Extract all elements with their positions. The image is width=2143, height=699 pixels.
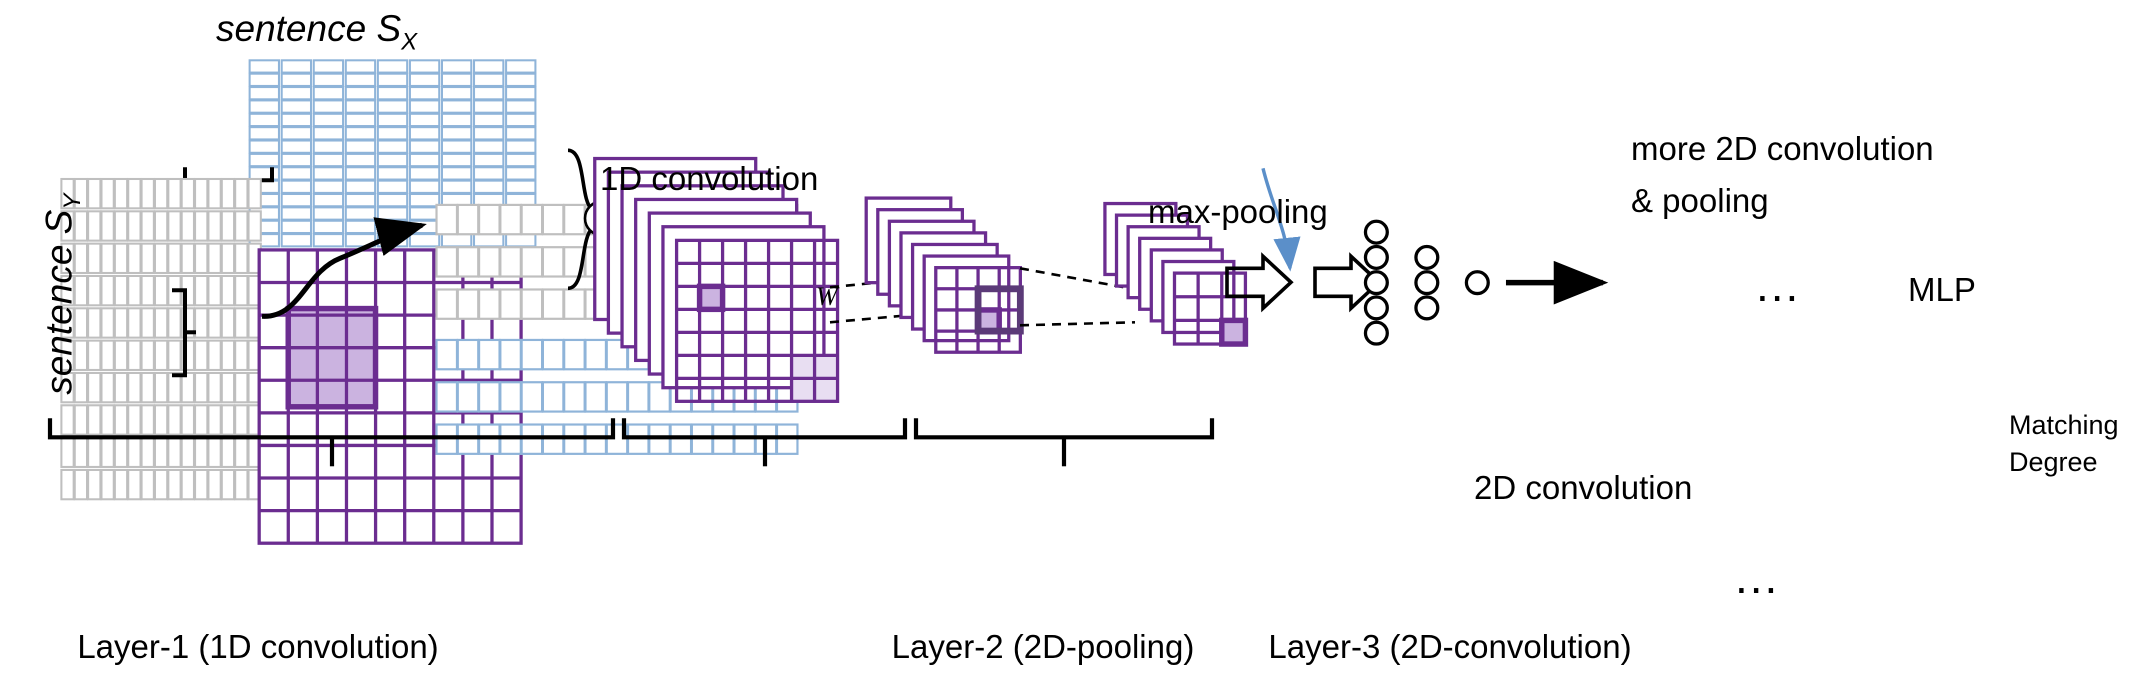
sentence-x-cell bbox=[314, 141, 343, 153]
sentence-x-cell bbox=[346, 154, 375, 166]
sentence-y-cell bbox=[182, 179, 194, 208]
sentence-y-cell bbox=[88, 341, 100, 370]
conv1d-cell bbox=[543, 205, 563, 234]
sentence-x-cell bbox=[474, 181, 503, 193]
layer2-map-pale-cell bbox=[792, 378, 815, 401]
sentence-x-cell bbox=[282, 207, 311, 219]
sentence-y-cell bbox=[208, 341, 220, 370]
sentence-x-cell bbox=[250, 60, 279, 72]
sentence-y-cell bbox=[168, 470, 180, 499]
sentence-x-cell bbox=[346, 114, 375, 126]
layer2-map-highlight-cell bbox=[700, 286, 723, 309]
sentence-y-cell bbox=[101, 438, 113, 467]
sentence-y-cell bbox=[222, 308, 234, 337]
sentence-y-cell bbox=[88, 470, 100, 499]
sentence-y-cell bbox=[128, 211, 140, 240]
sentence-y-cell bbox=[155, 373, 167, 402]
sentence-y-cell bbox=[115, 308, 127, 337]
conv1d-cell bbox=[479, 382, 499, 411]
sentence-x-cell bbox=[250, 87, 279, 99]
sentence-x-cell bbox=[346, 60, 375, 72]
sentence-x-cell bbox=[346, 221, 375, 233]
sentence-y-cell bbox=[142, 405, 154, 434]
sentence-x-cell bbox=[506, 87, 535, 99]
conv1d-cell bbox=[437, 340, 457, 369]
sentence-y-cell bbox=[61, 405, 73, 434]
sentence-y-cell bbox=[195, 211, 207, 240]
sentence-x-cell bbox=[474, 100, 503, 112]
sentence-y-label: sentence SY bbox=[38, 194, 86, 395]
sentence-y-cell bbox=[88, 179, 100, 208]
sentence-y-subscript: Y bbox=[59, 194, 86, 210]
sentence-y-cell bbox=[142, 341, 154, 370]
sentence-x-cell bbox=[474, 87, 503, 99]
conv1d-cell bbox=[500, 205, 520, 234]
sentence-x-cell bbox=[282, 234, 311, 246]
conv1d-cell bbox=[522, 289, 542, 318]
matching-degree-line2: Degree bbox=[2009, 447, 2098, 478]
sentence-y-cell bbox=[115, 405, 127, 434]
sentence-x-cell bbox=[378, 207, 407, 219]
sentence-y-cell bbox=[88, 373, 100, 402]
sentence-x-cell bbox=[346, 74, 375, 86]
sentence-x-cell bbox=[442, 87, 471, 99]
sentence-y-cell bbox=[222, 438, 234, 467]
sentence-x-cell bbox=[282, 194, 311, 206]
sentence-x-cell bbox=[314, 60, 343, 72]
sentence-y-cell bbox=[88, 308, 100, 337]
sentence-x-cell bbox=[314, 207, 343, 219]
sentence-x-cell bbox=[378, 100, 407, 112]
sentence-y-cell bbox=[235, 244, 247, 273]
sentence-y-cell bbox=[208, 308, 220, 337]
sentence-y-cell bbox=[222, 276, 234, 305]
sentence-y-cell bbox=[235, 470, 247, 499]
weight-node-label: W bbox=[816, 282, 838, 312]
sentence-x-cell bbox=[314, 127, 343, 139]
sentence-y-cell bbox=[222, 470, 234, 499]
sentence-y-cell bbox=[101, 179, 113, 208]
conv1d-cell bbox=[458, 289, 478, 318]
sentence-y-cell bbox=[168, 179, 180, 208]
sentence-x-cell bbox=[474, 141, 503, 153]
layer-2-bracket-label: Layer-2 (2D-pooling) bbox=[892, 628, 1195, 666]
layer2-map-pale-cell bbox=[815, 355, 838, 378]
conv1d-cell bbox=[522, 382, 542, 411]
sentence-y-cell bbox=[168, 341, 180, 370]
conv1d-cell bbox=[479, 205, 499, 234]
sentence-y-cell bbox=[155, 438, 167, 467]
sentence-x-cell bbox=[474, 74, 503, 86]
sentence-x-cell bbox=[506, 74, 535, 86]
sentence-x-cell bbox=[314, 221, 343, 233]
sentence-y-cell bbox=[101, 373, 113, 402]
sentence-x-cell bbox=[378, 87, 407, 99]
sentence-y-cell bbox=[128, 470, 140, 499]
sentence-y-cell bbox=[155, 470, 167, 499]
conv1d-cell bbox=[522, 205, 542, 234]
sentence-x-cell bbox=[346, 127, 375, 139]
conv1d-cell bbox=[458, 205, 478, 234]
sentence-y-cell bbox=[142, 244, 154, 273]
sentence-x-cell bbox=[250, 154, 279, 166]
sentence-y-cell bbox=[168, 405, 180, 434]
sentence-x-cell bbox=[282, 181, 311, 193]
sentence-x-cell bbox=[250, 74, 279, 86]
sentence-y-cell bbox=[75, 438, 87, 467]
sentence-y-cell bbox=[115, 373, 127, 402]
conv1d-cell bbox=[437, 247, 457, 276]
conv1d-cell bbox=[437, 382, 457, 411]
sentence-y-cell bbox=[182, 373, 194, 402]
sentence-x-cell bbox=[250, 100, 279, 112]
sentence-x-cell bbox=[250, 167, 279, 179]
sentence-y-cell bbox=[168, 308, 180, 337]
mlp-neuron bbox=[1365, 297, 1387, 319]
mlp-neuron bbox=[1365, 247, 1387, 269]
sentence-y-cell bbox=[101, 405, 113, 434]
sentence-x-cell bbox=[282, 87, 311, 99]
matching-degree-line1: Matching bbox=[2009, 410, 2119, 441]
sentence-y-cell bbox=[142, 211, 154, 240]
sentence-x-cell bbox=[378, 74, 407, 86]
sentence-y-cell bbox=[61, 470, 73, 499]
conv1d-cell bbox=[564, 289, 584, 318]
conv1d-cell bbox=[458, 382, 478, 411]
sentence-y-cell bbox=[235, 179, 247, 208]
layer3a-feature-map-stack bbox=[866, 198, 1020, 352]
sentence-y-cell bbox=[128, 179, 140, 208]
more-conv-label-line1: more 2D convolution bbox=[1631, 130, 1934, 168]
sentence-y-cell bbox=[128, 341, 140, 370]
sentence-y-cell bbox=[128, 438, 140, 467]
sentence-x-cell bbox=[442, 127, 471, 139]
sentence-x-cell bbox=[314, 181, 343, 193]
sentence-x-cell bbox=[314, 154, 343, 166]
conv1d-cell bbox=[564, 340, 584, 369]
sentence-x-cell bbox=[314, 87, 343, 99]
diagram-svg bbox=[0, 0, 2143, 699]
sentence-y-cell bbox=[88, 438, 100, 467]
conv1d-cell bbox=[437, 289, 457, 318]
sentence-y-cell bbox=[101, 341, 113, 370]
sentence-y-cell bbox=[115, 179, 127, 208]
sentence-x-cell bbox=[442, 74, 471, 86]
sentence-x-cell bbox=[314, 167, 343, 179]
conv1d-cell bbox=[543, 247, 563, 276]
sentence-y-cell bbox=[101, 211, 113, 240]
conv1d-cell bbox=[543, 289, 563, 318]
sentence-y-cell bbox=[142, 438, 154, 467]
sentence-x-cell bbox=[442, 100, 471, 112]
sentence-y-cell bbox=[182, 244, 194, 273]
layer2-map-pale-cell bbox=[815, 378, 838, 401]
sentence-x-cell bbox=[410, 154, 439, 166]
sentence-x-cell bbox=[346, 207, 375, 219]
sentence-x-cell bbox=[506, 167, 535, 179]
sentence-x-cell bbox=[410, 141, 439, 153]
sentence-x-cell bbox=[474, 60, 503, 72]
maxpool-label: max-pooling bbox=[1148, 193, 1328, 231]
sentence-y-cell bbox=[75, 470, 87, 499]
conv1d-cell bbox=[500, 340, 520, 369]
sentence-y-cell bbox=[222, 244, 234, 273]
sentence-y-cell bbox=[168, 244, 180, 273]
sentence-x-cell bbox=[506, 100, 535, 112]
sentence-x-cell bbox=[474, 167, 503, 179]
sentence-y-cell bbox=[195, 470, 207, 499]
sentence-y-cell bbox=[235, 405, 247, 434]
sentence-y-cell bbox=[155, 276, 167, 305]
sentence-x-cell bbox=[410, 127, 439, 139]
sentence-y-cell bbox=[222, 341, 234, 370]
sentence-y-cell bbox=[235, 308, 247, 337]
sentence-x-cell bbox=[410, 167, 439, 179]
sentence-y-cell bbox=[155, 341, 167, 370]
sentence-x-cell bbox=[378, 127, 407, 139]
sentence-x-cell bbox=[314, 114, 343, 126]
sentence-x-cell bbox=[474, 127, 503, 139]
sentence-x-label: sentence SX bbox=[216, 8, 417, 56]
sentence-y-cell bbox=[155, 308, 167, 337]
conv1d-cell bbox=[522, 340, 542, 369]
sentence-x-cell bbox=[346, 181, 375, 193]
sentence-x-cell bbox=[442, 60, 471, 72]
sentence-y-cell bbox=[168, 211, 180, 240]
sentence-x-cell bbox=[474, 234, 503, 246]
conv1d-cell bbox=[585, 382, 605, 411]
sentence-y-cell bbox=[115, 211, 127, 240]
conv1d-cell bbox=[628, 382, 648, 411]
sentence-x-cell bbox=[346, 100, 375, 112]
sentence-y-cell bbox=[208, 373, 220, 402]
conv1d-label: 1D convolution bbox=[600, 160, 818, 198]
mlp-label: MLP bbox=[1908, 271, 1976, 309]
sentence-x-cell bbox=[282, 60, 311, 72]
sentence-y-cell bbox=[195, 276, 207, 305]
conv1d-cell bbox=[479, 289, 499, 318]
sentence-x-cell bbox=[314, 194, 343, 206]
sentence-x-cell bbox=[282, 221, 311, 233]
ellipsis-bottom: ... bbox=[1735, 550, 1779, 604]
sentence-x-cell bbox=[442, 154, 471, 166]
sentence-y-cell bbox=[61, 438, 73, 467]
sentence-y-cell bbox=[222, 211, 234, 240]
conv1d-cell bbox=[607, 382, 627, 411]
more-conv-label-line2: & pooling bbox=[1631, 182, 1769, 220]
sentence-y-cell bbox=[142, 276, 154, 305]
sentence-y-cell bbox=[168, 373, 180, 402]
sentence-y-cell bbox=[195, 373, 207, 402]
sentence-y-cell bbox=[88, 405, 100, 434]
sentence-y-cell bbox=[128, 373, 140, 402]
mlp-neuron bbox=[1365, 221, 1387, 243]
sentence-y-cell bbox=[88, 211, 100, 240]
sentence-x-cell bbox=[506, 127, 535, 139]
sentence-y-cell bbox=[142, 179, 154, 208]
sentence-x-cell bbox=[346, 194, 375, 206]
mlp-network bbox=[1365, 221, 1602, 344]
sentence-y-cell bbox=[195, 341, 207, 370]
sentence-y-cell bbox=[208, 438, 220, 467]
sentence-x-cell bbox=[474, 114, 503, 126]
sentence-y-cell bbox=[155, 244, 167, 273]
conv1d-cell bbox=[437, 205, 457, 234]
sentence-x-cell bbox=[282, 127, 311, 139]
sentence-y-cell bbox=[235, 341, 247, 370]
layer-1-bracket-label: Layer-1 (1D convolution) bbox=[77, 628, 438, 666]
conv1d-cell bbox=[585, 340, 605, 369]
sentence-x-cell bbox=[410, 87, 439, 99]
sentence-x-cell bbox=[410, 181, 439, 193]
conv1d-cell bbox=[458, 247, 478, 276]
sentence-y-cell bbox=[88, 276, 100, 305]
sentence-y-cell bbox=[195, 308, 207, 337]
sentence-y-cell bbox=[155, 179, 167, 208]
sentence-x-cell bbox=[378, 194, 407, 206]
sentence-x-subscript: X bbox=[401, 28, 417, 55]
sentence-x-cell bbox=[282, 154, 311, 166]
sentence-y-cell bbox=[101, 308, 113, 337]
sentence-y-cell bbox=[195, 244, 207, 273]
sentence-x-cell bbox=[442, 181, 471, 193]
conv1d-cell bbox=[479, 247, 499, 276]
mlp-neuron bbox=[1365, 272, 1387, 294]
sentence-x-cell bbox=[282, 141, 311, 153]
sentence-y-cell bbox=[208, 276, 220, 305]
sentence-y-cell bbox=[249, 211, 261, 240]
sentence-y-cell bbox=[182, 211, 194, 240]
sentence-x-cell bbox=[442, 234, 471, 246]
sentence-y-cell bbox=[168, 438, 180, 467]
sentence-y-cell bbox=[128, 405, 140, 434]
sentence-x-cell bbox=[282, 114, 311, 126]
sentence-y-cell bbox=[182, 470, 194, 499]
sentence-y-cell bbox=[101, 470, 113, 499]
sentence-y-cell bbox=[182, 405, 194, 434]
sentence-x-cell bbox=[378, 167, 407, 179]
sentence-x-cell bbox=[378, 141, 407, 153]
sentence-x-cell bbox=[442, 167, 471, 179]
conv2d-label: 2D convolution bbox=[1474, 469, 1692, 507]
sentence-y-cell bbox=[222, 405, 234, 434]
sentence-y-cell bbox=[155, 405, 167, 434]
conv1d-cell bbox=[564, 205, 584, 234]
sentence-x-cell bbox=[250, 141, 279, 153]
layer2-map-pale-cell bbox=[792, 355, 815, 378]
sentence-y-cell bbox=[101, 276, 113, 305]
sentence-x-cell bbox=[346, 167, 375, 179]
sentence-y-cell bbox=[142, 308, 154, 337]
sentence-x-cell bbox=[506, 141, 535, 153]
sentence-y-cell bbox=[208, 405, 220, 434]
sentence-x-cell bbox=[314, 234, 343, 246]
mlp-neuron bbox=[1365, 322, 1387, 344]
sentence-y-cell bbox=[142, 470, 154, 499]
sentence-x-cell bbox=[346, 87, 375, 99]
sentence-y-cell bbox=[75, 405, 87, 434]
sentence-y-cell bbox=[195, 405, 207, 434]
conv1d-cell bbox=[500, 289, 520, 318]
sentence-x-cell bbox=[314, 100, 343, 112]
conv1d-cell bbox=[479, 340, 499, 369]
sentence-x-cell bbox=[282, 167, 311, 179]
sentence-x-cell bbox=[442, 114, 471, 126]
figure-canvas: sentence SX sentence SY 1D convolution m… bbox=[0, 0, 2143, 699]
sentence-y-matrix bbox=[61, 179, 260, 499]
sentence-x-cell bbox=[506, 181, 535, 193]
sentence-y-cell bbox=[249, 179, 261, 208]
sentence-x-cell bbox=[410, 100, 439, 112]
sentence-x-cell bbox=[410, 60, 439, 72]
sentence-y-cell bbox=[235, 276, 247, 305]
sentence-y-cell bbox=[208, 244, 220, 273]
mlp-neuron bbox=[1416, 272, 1438, 294]
sentence-y-cell bbox=[115, 438, 127, 467]
sentence-y-cell bbox=[195, 438, 207, 467]
sentence-y-cell bbox=[155, 211, 167, 240]
sentence-x-cell bbox=[410, 234, 439, 246]
ellipsis-middle: ... bbox=[1756, 258, 1800, 312]
sentence-x-cell bbox=[506, 114, 535, 126]
conv1d-cell bbox=[564, 382, 584, 411]
conv1d-cell bbox=[500, 382, 520, 411]
sentence-x-cell bbox=[506, 154, 535, 166]
conv1d-cell bbox=[500, 247, 520, 276]
sentence-y-cell bbox=[208, 211, 220, 240]
sentence-y-cell bbox=[208, 470, 220, 499]
block-arrow-1 bbox=[1227, 256, 1291, 308]
mlp-neuron bbox=[1416, 297, 1438, 319]
sentence-y-cell bbox=[128, 276, 140, 305]
sentence-y-cell bbox=[115, 470, 127, 499]
sentence-y-cell bbox=[235, 373, 247, 402]
sentence-x-cell bbox=[346, 141, 375, 153]
sentence-y-cell bbox=[142, 373, 154, 402]
sentence-x-cell bbox=[250, 114, 279, 126]
sentence-x-cell bbox=[442, 141, 471, 153]
sentence-x-cell bbox=[410, 194, 439, 206]
sentence-y-text: sentence S bbox=[38, 210, 79, 395]
sentence-y-cell bbox=[222, 179, 234, 208]
sentence-y-cell bbox=[128, 308, 140, 337]
sentence-x-cell bbox=[474, 154, 503, 166]
mlp-neuron bbox=[1416, 247, 1438, 269]
sentence-x-cell bbox=[250, 127, 279, 139]
sentence-y-cell bbox=[222, 373, 234, 402]
sentence-y-cell bbox=[115, 244, 127, 273]
sentence-x-cell bbox=[506, 234, 535, 246]
conv1d-cell bbox=[522, 247, 542, 276]
sentence-x-cell bbox=[314, 74, 343, 86]
sentence-x-cell bbox=[378, 181, 407, 193]
layer3b-map-highlight-cell bbox=[1222, 320, 1246, 344]
sentence-y-cell bbox=[115, 276, 127, 305]
sentence-y-cell bbox=[195, 179, 207, 208]
sentence-x-cell bbox=[506, 60, 535, 72]
sentence-y-cell bbox=[115, 341, 127, 370]
sentence-x-cell bbox=[410, 74, 439, 86]
sentence-y-cell bbox=[182, 438, 194, 467]
conv1d-cell bbox=[543, 340, 563, 369]
sentence-y-cell bbox=[235, 211, 247, 240]
sentence-x-cell bbox=[378, 154, 407, 166]
layer-3-bracket-label: Layer-3 (2D-convolution) bbox=[1268, 628, 1631, 666]
sentence-x-cell bbox=[282, 100, 311, 112]
sentence-x-cell bbox=[410, 114, 439, 126]
sentence-y-cell bbox=[88, 244, 100, 273]
conv1d-cell bbox=[458, 340, 478, 369]
